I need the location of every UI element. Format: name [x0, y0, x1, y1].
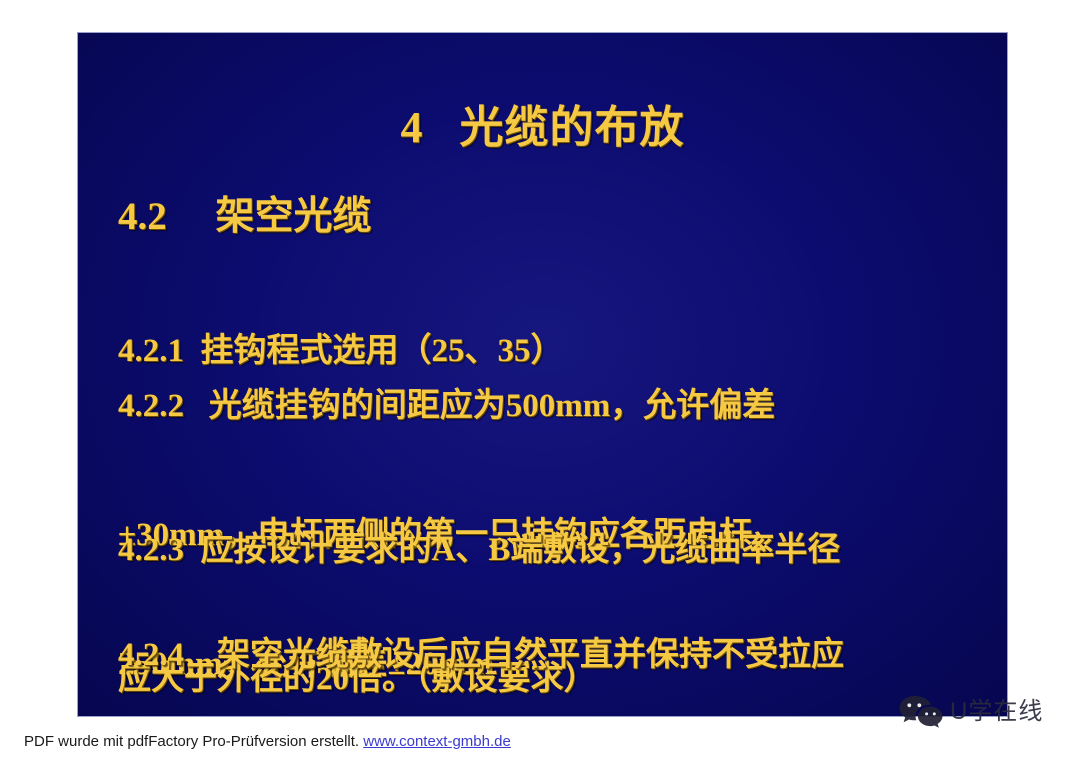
slide-title: 4 光缆的布放 — [78, 91, 1007, 155]
pdf-footer-link[interactable]: www.context-gmbh.de — [363, 733, 511, 750]
watermark: U学在线 — [898, 694, 1043, 730]
presentation-slide: 4 光缆的布放 4.2 架空光缆 4.2.1 挂钩程式选用（25、35） 4.2… — [78, 33, 1007, 716]
paragraph-line: 4.2.2 光缆挂钩的间距应为500mm，允许偏差 — [118, 385, 775, 428]
pdf-footer-text: PDF wurde mit pdfFactory Pro-Prüfversion… — [24, 733, 363, 750]
paragraph-4-2-4: 4.2.4 架空光缆敷设后应自然平直并保持不受拉应 力、无扭转、无机械损伤 — [118, 548, 844, 716]
watermark-label: U学在线 — [950, 700, 1043, 724]
slide-section-heading: 4.2 架空光缆 — [118, 185, 372, 241]
paragraph-line: 4.2.4 架空光缆敷设后应自然平直并保持不受拉应 — [118, 634, 844, 677]
pdf-footer-note: PDF wurde mit pdfFactory Pro-Prüfversion… — [24, 733, 511, 750]
wechat-icon — [898, 694, 944, 730]
